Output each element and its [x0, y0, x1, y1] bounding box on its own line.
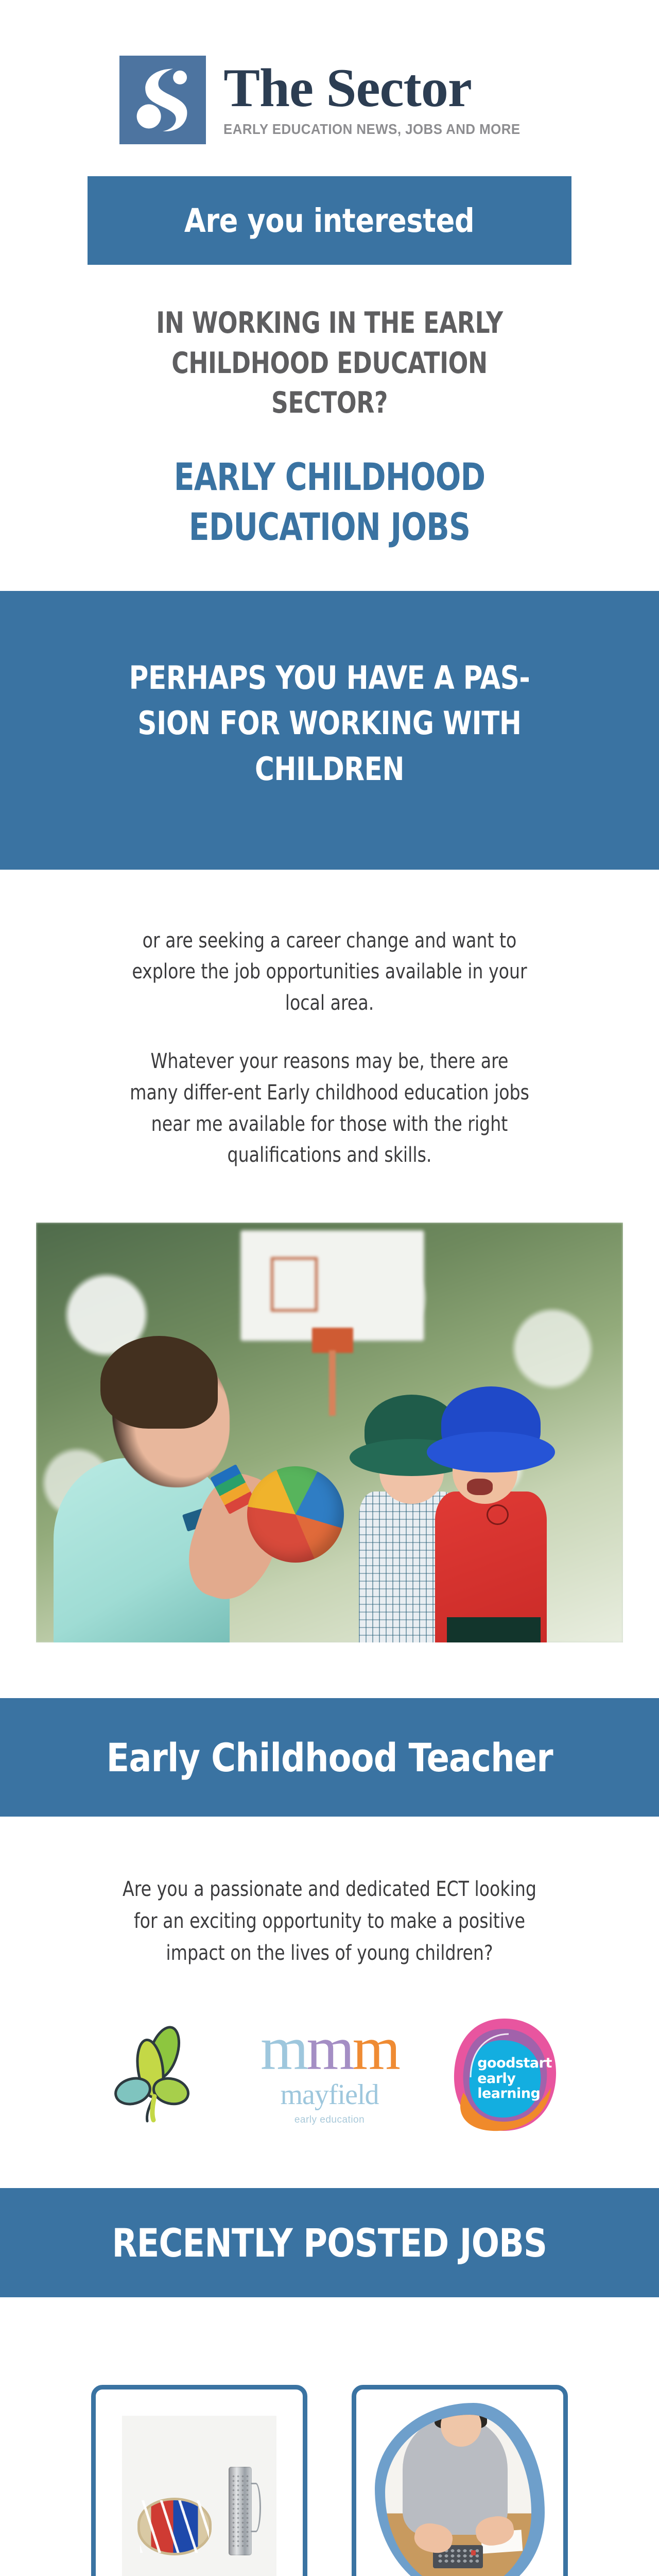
- woman-using-calculator-photo: [385, 2415, 531, 2576]
- child-2-pants: [447, 1617, 541, 1642]
- intro-paragraph-2: Whatever your reasons may be, there are …: [125, 1046, 535, 1171]
- ect-band-label: Early Childhood Teacher: [106, 1735, 552, 1781]
- intro-paragraph-1: or are seeking a career change and want …: [125, 925, 535, 1019]
- percussion-instruments-photo: [122, 2416, 276, 2576]
- partner-logo-3[interactable]: goodstart early learning: [432, 2010, 577, 2139]
- ect-copy: Are you a passionate and dedicated ECT l…: [118, 1873, 541, 1969]
- brand-tagline: EARLY EDUCATION NEWS, JOBS AND MORE: [223, 121, 521, 138]
- hero-photo: [36, 1223, 623, 1642]
- page-title: EARLY CHILDHOOD EDUCATION JOBS: [103, 452, 556, 552]
- hero-banner-label: Are you interested: [184, 202, 474, 240]
- jobs-grid-row-1: People, Culture & Systems Officer: [46, 2385, 613, 2576]
- partner-logo-1[interactable]: [82, 2010, 227, 2139]
- hero-subheading: IN WORKING IN THE EARLY CHILDHOOD EDUCAT…: [136, 303, 523, 423]
- job-thumbnail-calculator: [352, 2385, 568, 2576]
- photo-scene: [36, 1223, 623, 1642]
- passion-band: PERHAPS YOU HAVE A PAS-SION FOR WORKING …: [0, 591, 659, 870]
- goodstart-wordmark: goodstart early learning: [477, 2056, 543, 2100]
- mayfield-m-mark: mmm: [261, 2024, 398, 2073]
- brand-logo-lockup[interactable]: The Sector EARLY EDUCATION NEWS, JOBS AN…: [119, 56, 539, 144]
- drum-icon: [137, 2498, 212, 2555]
- job-card[interactable]: People, Culture & Systems Officer: [91, 2385, 307, 2576]
- mayfield-logo-icon: mmm mayfield early education: [261, 2024, 398, 2126]
- mayfield-subtitle: early education: [261, 2114, 398, 2126]
- leaf-butterfly-logo-icon: [103, 2023, 206, 2126]
- mayfield-wordmark: mayfield: [261, 2078, 398, 2111]
- intro-copy: or are seeking a career change and want …: [125, 925, 535, 1172]
- partner-logos-row: mmm mayfield early education goodstart e…: [67, 2010, 592, 2139]
- educator-hair: [100, 1336, 218, 1428]
- job-card[interactable]: Lead Practice Partner: [352, 2385, 568, 2576]
- passion-heading: PERHAPS YOU HAVE A PAS-SION FOR WORKING …: [120, 655, 539, 792]
- shaker-icon: [229, 2467, 252, 2555]
- hero-banner: Are you interested: [88, 176, 571, 265]
- site-header: The Sector EARLY EDUCATION NEWS, JOBS AN…: [0, 0, 659, 144]
- s-monogram-icon: [119, 56, 206, 144]
- recent-jobs-band: RECENTLY POSTED JOBS: [0, 2188, 659, 2297]
- basketball-backboard: [241, 1231, 423, 1341]
- goodstart-logo-icon: goodstart early learning: [448, 2015, 561, 2134]
- basketball-rim: [312, 1328, 353, 1353]
- recent-jobs-label: RECENTLY POSTED JOBS: [112, 2220, 547, 2266]
- blob-frame: [375, 2403, 545, 2576]
- child-2-blue-hat: [441, 1386, 541, 1462]
- ect-band: Early Childhood Teacher: [0, 1698, 659, 1817]
- basketball-icon: [247, 1466, 344, 1563]
- brand-wordmark: The Sector: [223, 62, 539, 114]
- partner-logo-2[interactable]: mmm mayfield early education: [257, 2010, 402, 2139]
- job-thumbnail-instruments: [91, 2385, 307, 2576]
